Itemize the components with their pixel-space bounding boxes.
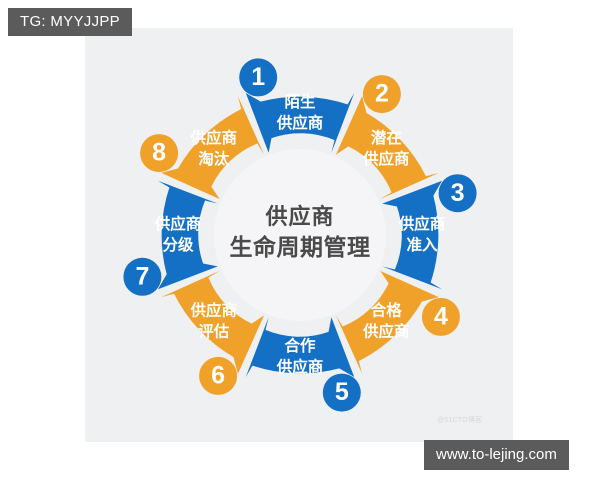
hub-title-line2: 生命周期管理 <box>230 234 371 260</box>
segment-4-number: 4 <box>434 303 448 331</box>
segment-8-label-line2: 淘汰 <box>198 149 230 168</box>
wheel-segment-7 <box>158 181 218 289</box>
segment-5-number: 5 <box>335 378 349 406</box>
segment-2-number: 2 <box>375 80 389 108</box>
segment-2-label-line1: 潜在 <box>371 128 402 147</box>
website-url-badge: www.to-lejing.com <box>424 440 569 470</box>
segment-4-label-line2: 供应商 <box>362 321 410 340</box>
segment-1-number: 1 <box>251 63 265 91</box>
segment-2-label-line2: 供应商 <box>362 149 410 168</box>
segment-8-label-line1: 供应商 <box>189 128 237 147</box>
segment-5-label-line1: 合作 <box>284 336 316 355</box>
segment-7-number: 7 <box>135 262 149 290</box>
segment-3-label-line2: 准入 <box>406 235 438 254</box>
segment-4-label-line1: 合格 <box>371 300 403 319</box>
hub-title-line1: 供应商 <box>264 204 334 229</box>
segment-3-label-line1: 供应商 <box>398 214 446 233</box>
segment-5-label-line2: 供应商 <box>276 357 324 376</box>
segment-8-number: 8 <box>152 139 166 167</box>
segment-1-label-line1: 陌生 <box>284 92 316 111</box>
segment-7-label-line1: 供应商 <box>154 214 202 233</box>
segment-6-label-line1: 供应商 <box>189 300 237 319</box>
segment-6-label-line2: 评估 <box>198 321 230 340</box>
tg-handle-badge: TG: MYYJJPP <box>8 8 132 36</box>
wheel-segment-3 <box>382 181 442 289</box>
segment-3-number: 3 <box>451 179 465 207</box>
segment-1-label-line2: 供应商 <box>276 113 324 132</box>
screenshot-canvas: TG: MYYJJPP @51CTO博客 www.to-lejing.com 陌… <box>0 0 600 480</box>
segment-7-label-line2: 分级 <box>162 235 194 254</box>
supplier-lifecycle-wheel: 陌生供应商潜在供应商供应商准入合格供应商合作供应商供应商评估供应商分级供应商淘汰… <box>110 40 490 430</box>
segment-6-number: 6 <box>211 362 225 390</box>
